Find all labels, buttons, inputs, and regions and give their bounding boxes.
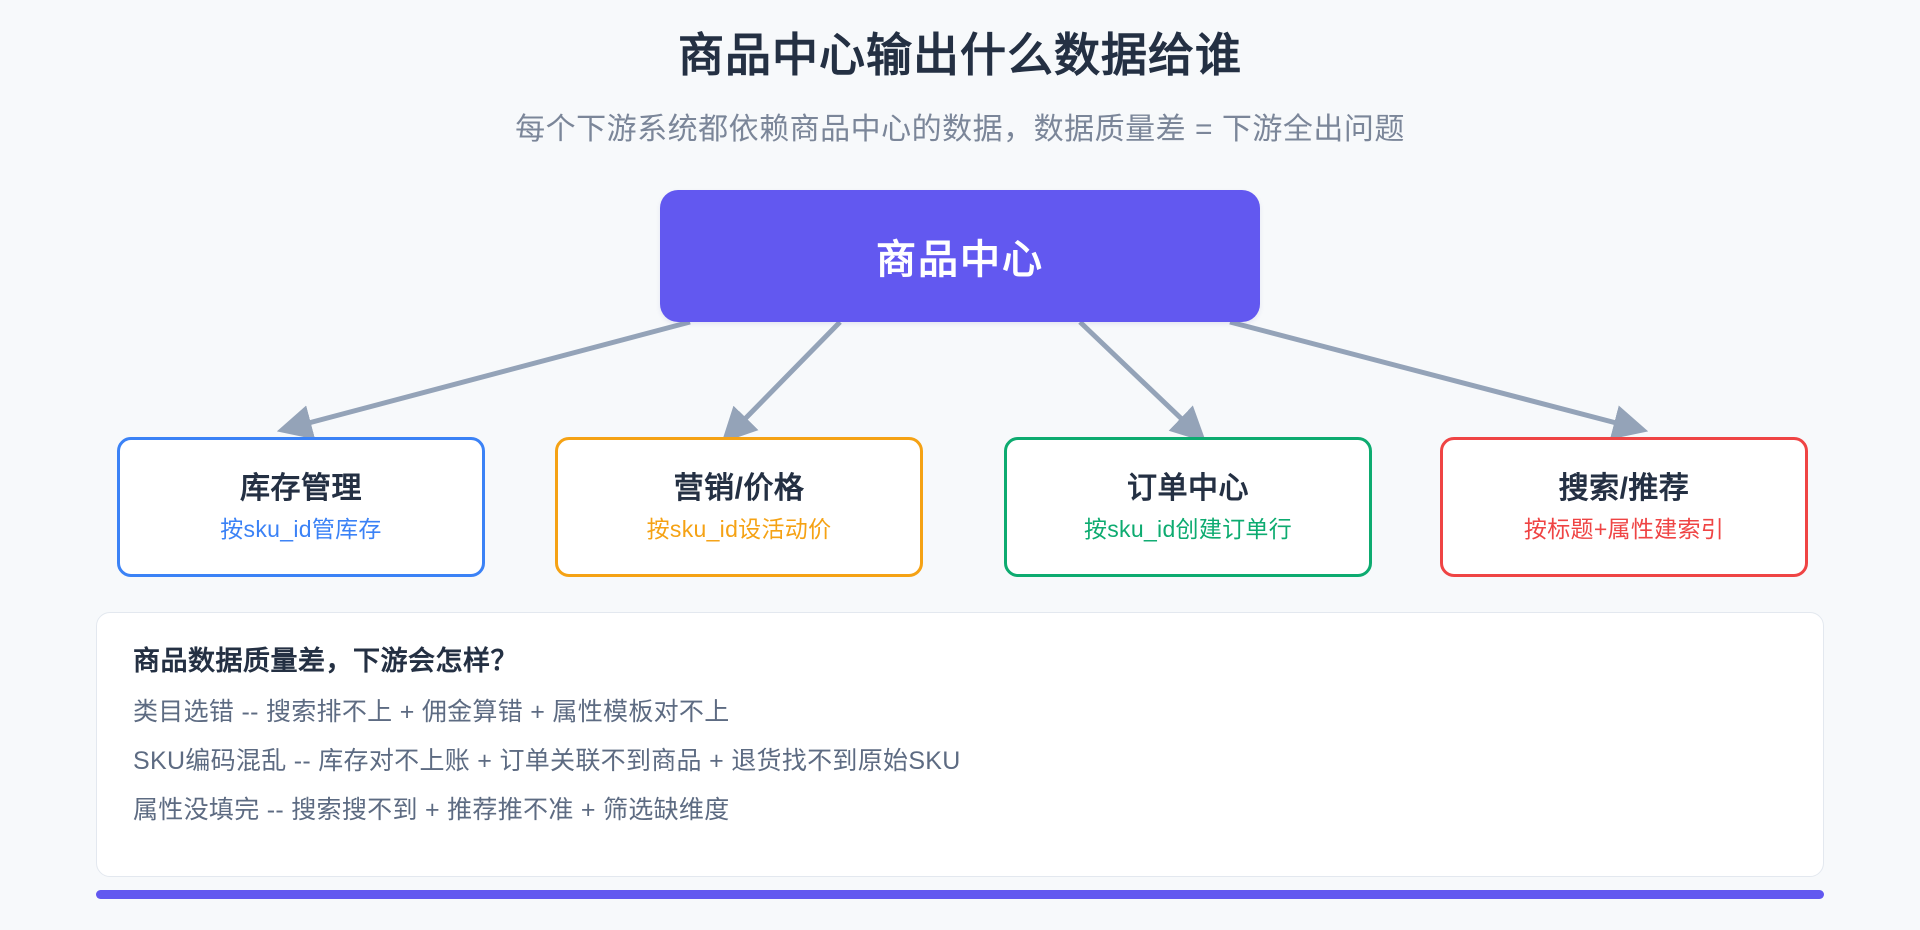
child-node-subtitle: 按标题+属性建索引: [1524, 516, 1724, 542]
impact-panel-title: 商品数据质量差，下游会怎样？: [133, 639, 1787, 678]
child-node-title: 库存管理: [240, 472, 362, 507]
child-node-marketing-price[interactable]: 营销/价格 按sku_id设活动价: [555, 437, 923, 577]
child-node-order-center[interactable]: 订单中心 按sku_id创建订单行: [1004, 437, 1372, 577]
page-subtitle: 每个下游系统都依赖商品中心的数据，数据质量差 = 下游全出问题: [0, 104, 1920, 148]
impact-line: 属性没填完 -- 搜索搜不到 + 推荐推不准 + 筛选缺维度: [133, 798, 1787, 823]
child-node-subtitle: 按sku_id设活动价: [647, 516, 832, 542]
root-node-label: 商品中心: [876, 227, 1044, 285]
child-node-title: 订单中心: [1127, 472, 1249, 507]
accent-bar: [96, 890, 1824, 899]
child-node-inventory[interactable]: 库存管理 按sku_id管库存: [117, 437, 485, 577]
child-node-title: 搜索/推荐: [1559, 472, 1690, 507]
page-title: 商品中心输出什么数据给谁: [0, 28, 1920, 83]
slide-canvas: 商品中心输出什么数据给谁 每个下游系统都依赖商品中心的数据，数据质量差 = 下游…: [0, 0, 1920, 930]
impact-line: 类目选错 -- 搜索排不上 + 佣金算错 + 属性模板对不上: [133, 700, 1787, 725]
child-node-title: 营销/价格: [674, 472, 805, 507]
impact-panel: 商品数据质量差，下游会怎样？ 类目选错 -- 搜索排不上 + 佣金算错 + 属性…: [96, 612, 1824, 877]
impact-line: SKU编码混乱 -- 库存对不上账 + 订单关联不到商品 + 退货找不到原始SK…: [133, 749, 1787, 774]
child-node-subtitle: 按sku_id管库存: [220, 516, 381, 542]
child-node-search-recommend[interactable]: 搜索/推荐 按标题+属性建索引: [1440, 437, 1808, 577]
child-node-subtitle: 按sku_id创建订单行: [1084, 516, 1292, 542]
root-node-product-center[interactable]: 商品中心: [660, 190, 1260, 322]
